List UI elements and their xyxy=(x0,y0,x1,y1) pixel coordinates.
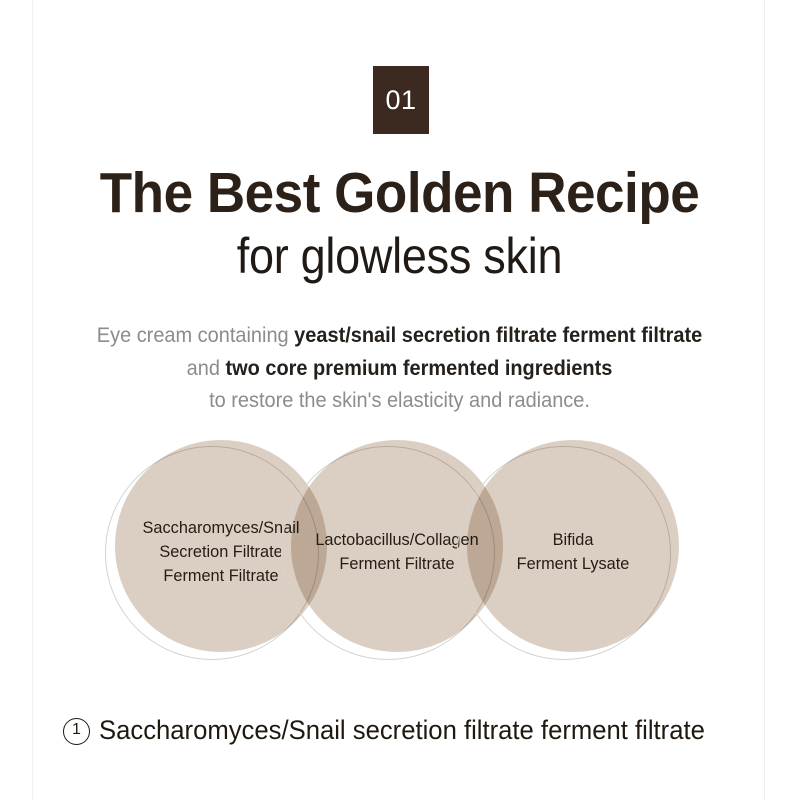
product-detail-page: 01 The Best Golden Recipe for glowless s… xyxy=(0,0,800,800)
intro-paragraph: Eye cream containing yeast/snail secreti… xyxy=(51,320,747,418)
circled-number-icon: 1 xyxy=(63,718,90,745)
intro-line-1: Eye cream containing yeast/snail secreti… xyxy=(51,320,747,353)
page-title: The Best Golden Recipe xyxy=(59,164,741,224)
venn-disc-3 xyxy=(467,440,679,652)
intro-line-1-prefix: Eye cream containing xyxy=(97,324,294,347)
ingredient-footnote-text: Saccharomyces/Snail secretion filtrate f… xyxy=(99,714,705,746)
section-number-badge: 01 xyxy=(373,66,429,134)
ingredient-footnote-item: 1 Saccharomyces/Snail secretion filtrate… xyxy=(63,714,763,746)
intro-line-2: and two core premium fermented ingredien… xyxy=(51,353,747,386)
section-number-label: 01 xyxy=(385,87,416,114)
content-card: 01 The Best Golden Recipe for glowless s… xyxy=(32,0,765,800)
ingredient-venn-diagram: Saccharomyces/Snail Secretion Filtrate F… xyxy=(33,440,765,662)
intro-line-3: to restore the skin's elasticity and rad… xyxy=(51,385,747,418)
intro-line-2-prefix: and xyxy=(187,357,226,380)
page-subtitle: for glowless skin xyxy=(70,228,730,284)
intro-line-2-highlight: two core premium fermented ingredients xyxy=(225,357,612,380)
intro-line-1-highlight: yeast/snail secretion filtrate ferment f… xyxy=(294,324,702,347)
